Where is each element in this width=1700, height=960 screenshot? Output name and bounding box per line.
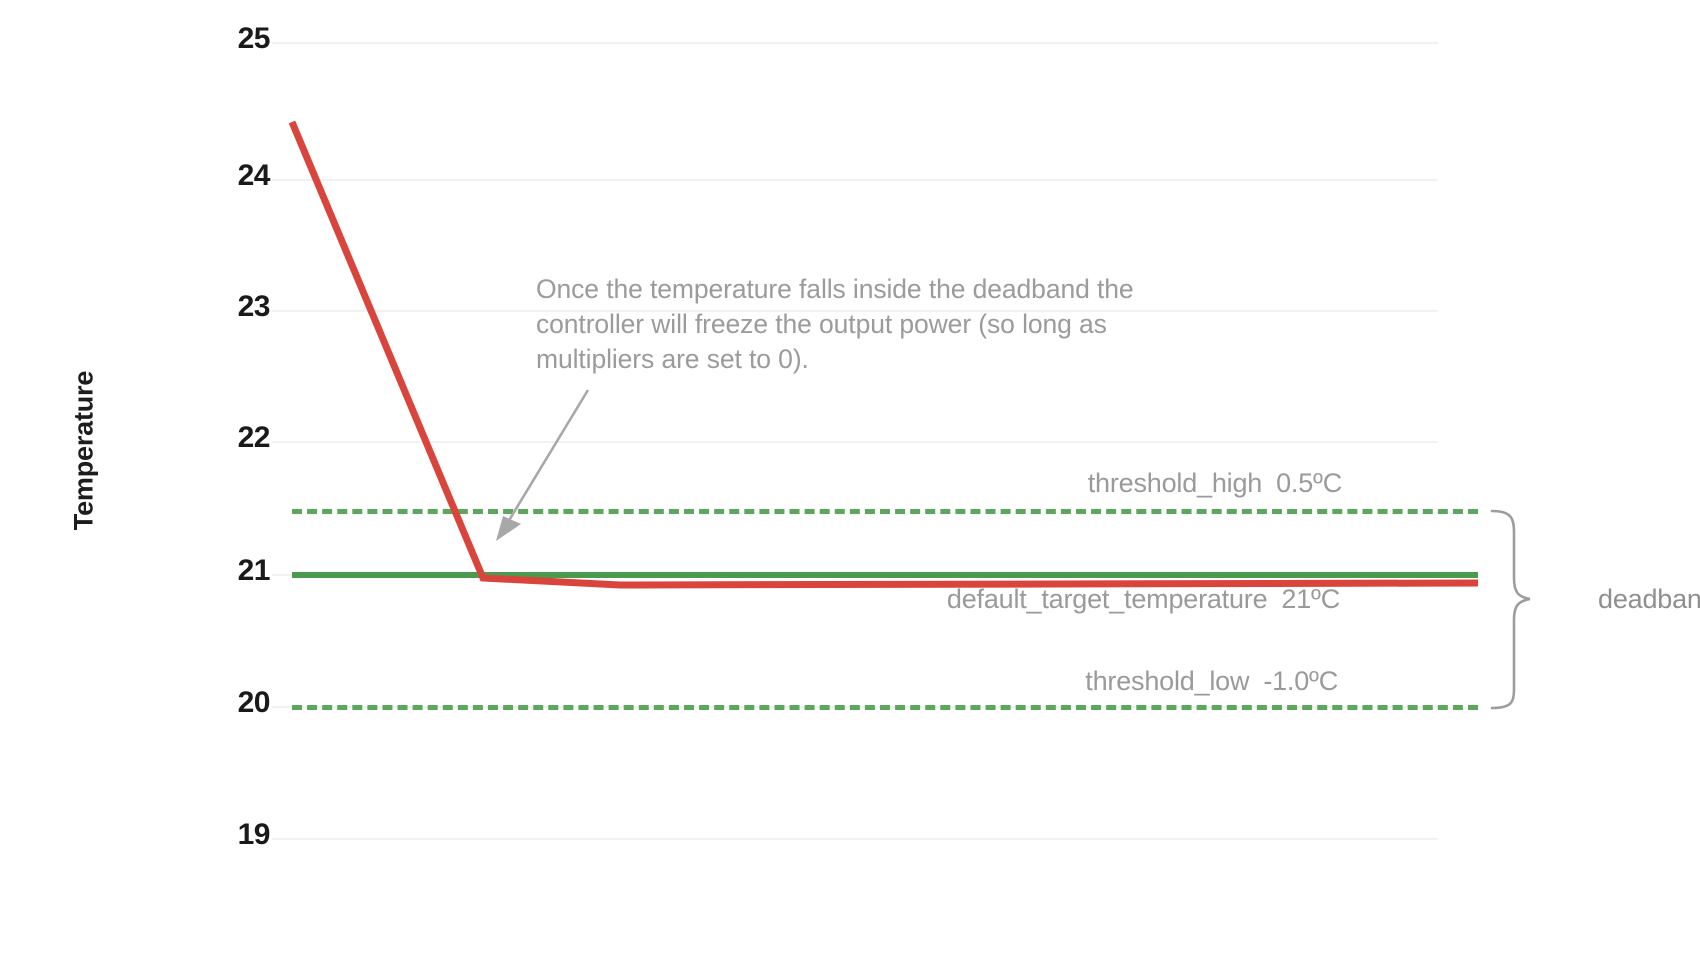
threshold-low-label: threshold_low-1.0ºC [1085,666,1338,697]
callout-line-2: controller will freeze the output power … [536,307,1216,342]
chart-canvas: 25 24 23 22 21 20 19 Temperature Once th… [0,0,1700,960]
default-target-temperature-label: default_target_temperature21ºC [947,584,1340,615]
threshold-low-label-name: threshold_low [1085,666,1249,696]
threshold-high-label: threshold_high0.5ºC [1088,468,1342,499]
callout-line-3: multipliers are set to 0). [536,342,1216,377]
target-label-name: default_target_temperature [947,584,1268,614]
deadband-brace [1492,511,1530,708]
vector-overlay [0,0,1700,960]
target-label-value: 21ºC [1281,584,1340,614]
deadband-label: deadband [1598,584,1700,615]
callout-arrow [496,390,588,541]
threshold-low-label-value: -1.0ºC [1263,666,1338,696]
threshold-high-label-name: threshold_high [1088,468,1262,498]
callout-line-1: Once the temperature falls inside the de… [536,272,1216,307]
deadband-callout: Once the temperature falls inside the de… [536,272,1216,377]
threshold-high-label-value: 0.5ºC [1276,468,1342,498]
